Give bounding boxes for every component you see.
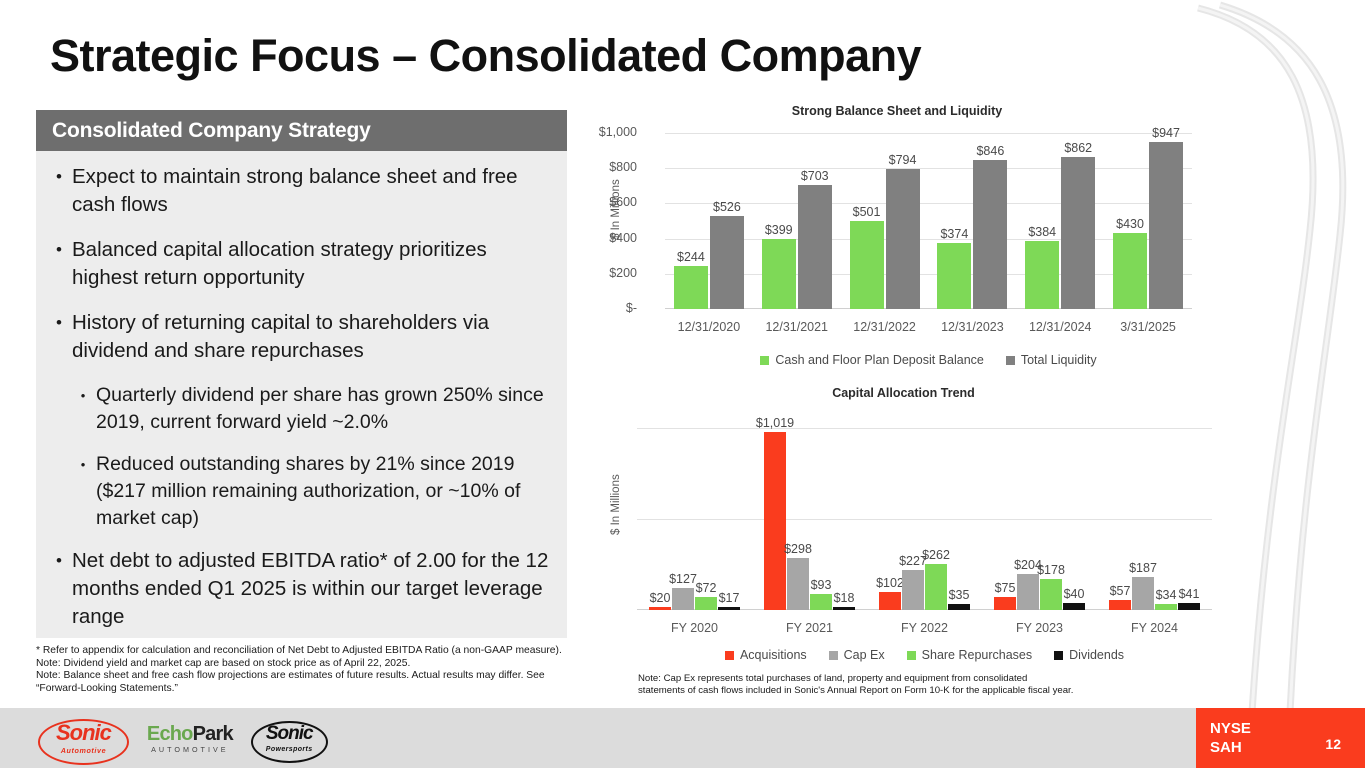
bullet-text: Quarterly dividend per share has grown 2… — [96, 382, 551, 436]
nyse-ticker-badge: NYSE SAH 12 — [1196, 708, 1365, 768]
bar-value-label: $262 — [922, 548, 950, 562]
bar-value-label: $947 — [1152, 126, 1180, 140]
bar-value-label: $20 — [650, 591, 671, 605]
bar: $947 — [1149, 142, 1183, 309]
chart2-note-line: statements of cash flows included in Son… — [638, 685, 1198, 697]
bar: $399 — [762, 239, 796, 309]
bar: $526 — [710, 216, 744, 309]
legend-label: Dividends — [1069, 648, 1124, 662]
bar: $57 — [1109, 600, 1131, 610]
bar: $846 — [973, 160, 1007, 309]
bar-group: $1,019$298$93$18 — [752, 418, 867, 610]
bar-group: $20$127$72$17 — [637, 418, 752, 610]
bullet-marker-icon: • — [70, 451, 96, 532]
bar-value-label: $178 — [1037, 563, 1065, 577]
bullet-marker-icon: • — [46, 547, 72, 631]
bullet-item: •Balanced capital allocation strategy pr… — [46, 236, 551, 292]
x-axis-label: FY 2023 — [982, 621, 1097, 635]
bar: $430 — [1113, 233, 1147, 309]
logo-echopark-sub: AUTOMOTIVE — [147, 742, 233, 757]
footnotes: * Refer to appendix for calculation and … — [36, 645, 576, 695]
bar: $18 — [833, 607, 855, 610]
panel-header: Consolidated Company Strategy — [36, 110, 567, 151]
chart2-title: Capital Allocation Trend — [645, 386, 1162, 400]
legend-swatch — [1006, 356, 1015, 365]
legend-swatch — [725, 651, 734, 660]
legend-item: Cash and Floor Plan Deposit Balance — [760, 353, 983, 367]
bar-value-label: $846 — [976, 144, 1004, 158]
bar: $40 — [1063, 603, 1085, 610]
logo-sonic-automotive-sub: Automotive — [56, 742, 111, 760]
chart2-legend: AcquisitionsCap ExShare RepurchasesDivid… — [637, 648, 1212, 662]
legend-item: Total Liquidity — [1006, 353, 1097, 367]
bar-value-label: $57 — [1110, 584, 1131, 598]
bullet-marker-icon: • — [46, 309, 72, 365]
bar: $72 — [695, 597, 717, 610]
x-axis-label: 12/31/2021 — [753, 320, 841, 334]
slide: Strategic Focus – Consolidated Company C… — [0, 0, 1365, 768]
legend-label: Cap Ex — [844, 648, 885, 662]
bullet-item: •Expect to maintain strong balance sheet… — [46, 163, 551, 219]
bullet-item: •Net debt to adjusted EBITDA ratio* of 2… — [46, 547, 551, 631]
tire-tracks-graphic — [1190, 0, 1365, 712]
logo-sonic-powersports: Sonic Powersports — [251, 721, 328, 763]
bullet-text: Reduced outstanding shares by 21% since … — [96, 451, 551, 532]
bar-value-label: $34 — [1156, 588, 1177, 602]
bar-value-label: $703 — [801, 169, 829, 183]
bar-value-label: $187 — [1129, 561, 1157, 575]
footnote-line: Note: Balance sheet and free cash flow p… — [36, 670, 576, 683]
strategy-panel: Consolidated Company Strategy •Expect to… — [36, 110, 567, 638]
bar-value-label: $75 — [995, 581, 1016, 595]
x-axis-label: FY 2020 — [637, 621, 752, 635]
logo-sonic-powersports-sub: Powersports — [266, 742, 313, 758]
page-number: 12 — [1325, 736, 1341, 752]
bar-value-label: $93 — [811, 578, 832, 592]
legend-swatch — [829, 651, 838, 660]
footer-logos: Sonic Automotive EchoPark AUTOMOTIVE Son… — [38, 719, 328, 765]
bar: $75 — [994, 597, 1016, 610]
legend-swatch — [907, 651, 916, 660]
bar: $20 — [649, 607, 671, 610]
bar: $17 — [718, 607, 740, 610]
x-axis-label: FY 2021 — [752, 621, 867, 635]
bar-value-label: $501 — [853, 205, 881, 219]
bar: $703 — [798, 185, 832, 309]
legend-label: Total Liquidity — [1021, 353, 1097, 367]
sub-bullet-item: •Reduced outstanding shares by 21% since… — [70, 451, 551, 532]
page-title: Strategic Focus – Consolidated Company — [50, 30, 921, 82]
bar-value-label: $384 — [1028, 225, 1056, 239]
bar: $102 — [879, 592, 901, 610]
bar: $93 — [810, 594, 832, 610]
bar-group: $501$794 — [841, 133, 929, 309]
bar: $35 — [948, 604, 970, 610]
bar-value-label: $72 — [696, 581, 717, 595]
chart1-x-labels: 12/31/202012/31/202112/31/202212/31/2023… — [665, 320, 1192, 334]
bar-value-label: $1,019 — [756, 416, 794, 430]
legend-item: Cap Ex — [829, 648, 885, 662]
bar-group: $430$947 — [1104, 133, 1192, 309]
bar: $204 — [1017, 574, 1039, 610]
logo-echopark: EchoPark AUTOMOTIVE — [147, 727, 233, 757]
legend-label: Acquisitions — [740, 648, 807, 662]
legend-label: Cash and Floor Plan Deposit Balance — [775, 353, 983, 367]
bullet-text: Expect to maintain strong balance sheet … — [72, 163, 551, 219]
bullet-text: Net debt to adjusted EBITDA ratio* of 2.… — [72, 547, 551, 631]
y-axis-tick-label: $1,000 — [585, 125, 637, 139]
bullet-marker-icon: • — [46, 163, 72, 219]
bar: $187 — [1132, 577, 1154, 610]
chart2-note-line: Note: Cap Ex represents total purchases … — [638, 673, 1198, 685]
bar: $34 — [1155, 604, 1177, 610]
chart2-note: Note: Cap Ex represents total purchases … — [638, 673, 1198, 697]
bar: $227 — [902, 570, 924, 610]
bar-value-label: $862 — [1064, 141, 1092, 155]
bar-value-label: $794 — [889, 153, 917, 167]
bar-value-label: $244 — [677, 250, 705, 264]
bar-value-label: $399 — [765, 223, 793, 237]
bullet-item: •History of returning capital to shareho… — [46, 309, 551, 365]
legend-item: Acquisitions — [725, 648, 807, 662]
logo-sonic-powersports-name: Sonic — [266, 723, 313, 744]
ticker-label: SAH — [1210, 738, 1251, 757]
x-axis-label: FY 2022 — [867, 621, 982, 635]
bar: $862 — [1061, 157, 1095, 309]
chart2-x-labels: FY 2020FY 2021FY 2022FY 2023FY 2024 — [637, 621, 1212, 635]
y-axis-tick-label: $600 — [585, 195, 637, 209]
bullet-marker-icon: • — [70, 382, 96, 436]
bullet-text: History of returning capital to sharehol… — [72, 309, 551, 365]
chart2-y-axis-title: $ In Millions — [610, 474, 622, 535]
bar-group: $75$204$178$40 — [982, 418, 1097, 610]
bar-value-label: $526 — [713, 200, 741, 214]
x-axis-label: 3/31/2025 — [1104, 320, 1192, 334]
footnote-line: “Forward-Looking Statements.” — [36, 683, 576, 696]
legend-item: Share Repurchases — [907, 648, 1032, 662]
bar: $41 — [1178, 603, 1200, 610]
bar: $794 — [886, 169, 920, 309]
x-axis-label: FY 2024 — [1097, 621, 1212, 635]
bar-value-label: $127 — [669, 572, 697, 586]
bar-group: $57$187$34$41 — [1097, 418, 1212, 610]
bar-value-label: $374 — [940, 227, 968, 241]
y-axis-tick-label: $200 — [585, 266, 637, 280]
chart2-plot-area: $20$127$72$17$1,019$298$93$18$102$227$26… — [637, 418, 1212, 610]
legend-swatch — [1054, 651, 1063, 660]
x-axis-label: 12/31/2020 — [665, 320, 753, 334]
bar: $298 — [787, 558, 809, 610]
bar-value-label: $41 — [1179, 587, 1200, 601]
y-axis-tick-label: $400 — [585, 231, 637, 245]
bar-group: $244$526 — [665, 133, 753, 309]
y-axis-tick-label: $800 — [585, 160, 637, 174]
bar-group: $374$846 — [928, 133, 1016, 309]
bullet-list: •Expect to maintain strong balance sheet… — [36, 151, 567, 631]
footnote-line: * Refer to appendix for calculation and … — [36, 645, 576, 658]
x-axis-label: 12/31/2023 — [928, 320, 1016, 334]
bar: $374 — [937, 243, 971, 309]
bar-value-label: $35 — [949, 588, 970, 602]
y-axis-tick-label: $- — [585, 301, 637, 315]
logo-sonic-automotive: Sonic Automotive — [38, 719, 129, 765]
bar: $178 — [1040, 579, 1062, 610]
nyse-ticker-text: NYSE SAH — [1196, 719, 1251, 757]
bar-group: $399$703 — [753, 133, 841, 309]
chart1-plot-area: $244$526$399$703$501$794$374$846$384$862… — [665, 133, 1192, 309]
bullet-marker-icon: • — [46, 236, 72, 292]
chart1-legend: Cash and Floor Plan Deposit BalanceTotal… — [665, 353, 1192, 367]
sub-bullet-item: •Quarterly dividend per share has grown … — [70, 382, 551, 436]
logo-echopark-name: EchoPark — [147, 727, 233, 742]
bar-group: $384$862 — [1016, 133, 1104, 309]
bar-value-label: $40 — [1064, 587, 1085, 601]
bar: $384 — [1025, 241, 1059, 309]
bar-value-label: $298 — [784, 542, 812, 556]
bullet-text: Balanced capital allocation strategy pri… — [72, 236, 551, 292]
x-axis-label: 12/31/2024 — [1016, 320, 1104, 334]
bar-value-label: $430 — [1116, 217, 1144, 231]
exchange-label: NYSE — [1210, 719, 1251, 738]
footnote-line: Note: Dividend yield and market cap are … — [36, 658, 576, 671]
chart1-title: Strong Balance Sheet and Liquidity — [637, 104, 1157, 118]
bar: $127 — [672, 588, 694, 610]
bar: $244 — [674, 266, 708, 309]
bar: $501 — [850, 221, 884, 309]
bar-group: $102$227$262$35 — [867, 418, 982, 610]
legend-label: Share Repurchases — [922, 648, 1032, 662]
bar-value-label: $17 — [719, 591, 740, 605]
bar: $1,019 — [764, 432, 786, 610]
bar-value-label: $18 — [834, 591, 855, 605]
bar-value-label: $102 — [876, 576, 904, 590]
bar: $262 — [925, 564, 947, 610]
legend-swatch — [760, 356, 769, 365]
legend-item: Dividends — [1054, 648, 1124, 662]
x-axis-label: 12/31/2022 — [841, 320, 929, 334]
